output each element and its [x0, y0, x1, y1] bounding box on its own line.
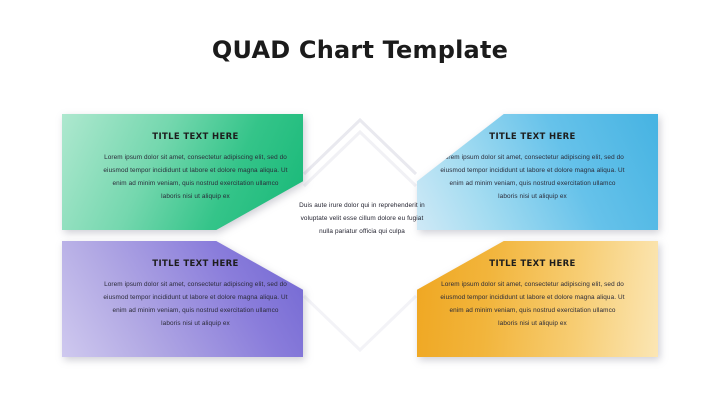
quadrant-top-right-surface: TITLE TEXT HERE Lorem ipsum dolor sit am…: [417, 114, 658, 230]
quadrant-bottom-left-body: Lorem ipsum dolor sit amet, consectetur …: [76, 269, 289, 331]
quadrant-group: TITLE TEXT HERE Lorem ipsum dolor sit am…: [62, 114, 658, 357]
center-diamond-text: Duis aute irure dolor qui in reprehender…: [297, 200, 427, 238]
quadrant-bottom-left-title: TITLE TEXT HERE: [76, 241, 289, 269]
quad-chart-slide: QUAD Chart Template TITLE TEXT HERE Lore…: [0, 0, 720, 404]
quadrant-top-right[interactable]: TITLE TEXT HERE Lorem ipsum dolor sit am…: [417, 114, 658, 230]
quadrant-top-right-title: TITLE TEXT HERE: [431, 114, 644, 142]
quadrant-top-left[interactable]: TITLE TEXT HERE Lorem ipsum dolor sit am…: [62, 114, 303, 230]
quadrant-bottom-right-title: TITLE TEXT HERE: [431, 241, 644, 269]
quadrant-bottom-right-surface: TITLE TEXT HERE Lorem ipsum dolor sit am…: [417, 241, 658, 357]
quadrant-top-right-body: Lorem ipsum dolor sit amet, consectetur …: [431, 142, 644, 204]
quadrant-bottom-left[interactable]: TITLE TEXT HERE Lorem ipsum dolor sit am…: [62, 241, 303, 357]
quadrant-top-left-body: Lorem ipsum dolor sit amet, consectetur …: [76, 142, 289, 204]
quadrant-top-left-title: TITLE TEXT HERE: [76, 114, 289, 142]
page-title: QUAD Chart Template: [0, 36, 720, 64]
quadrant-bottom-right[interactable]: TITLE TEXT HERE Lorem ipsum dolor sit am…: [417, 241, 658, 357]
quadrant-bottom-right-body: Lorem ipsum dolor sit amet, consectetur …: [431, 269, 644, 331]
quadrant-bottom-left-surface: TITLE TEXT HERE Lorem ipsum dolor sit am…: [62, 241, 303, 357]
quadrant-top-left-surface: TITLE TEXT HERE Lorem ipsum dolor sit am…: [62, 114, 303, 230]
